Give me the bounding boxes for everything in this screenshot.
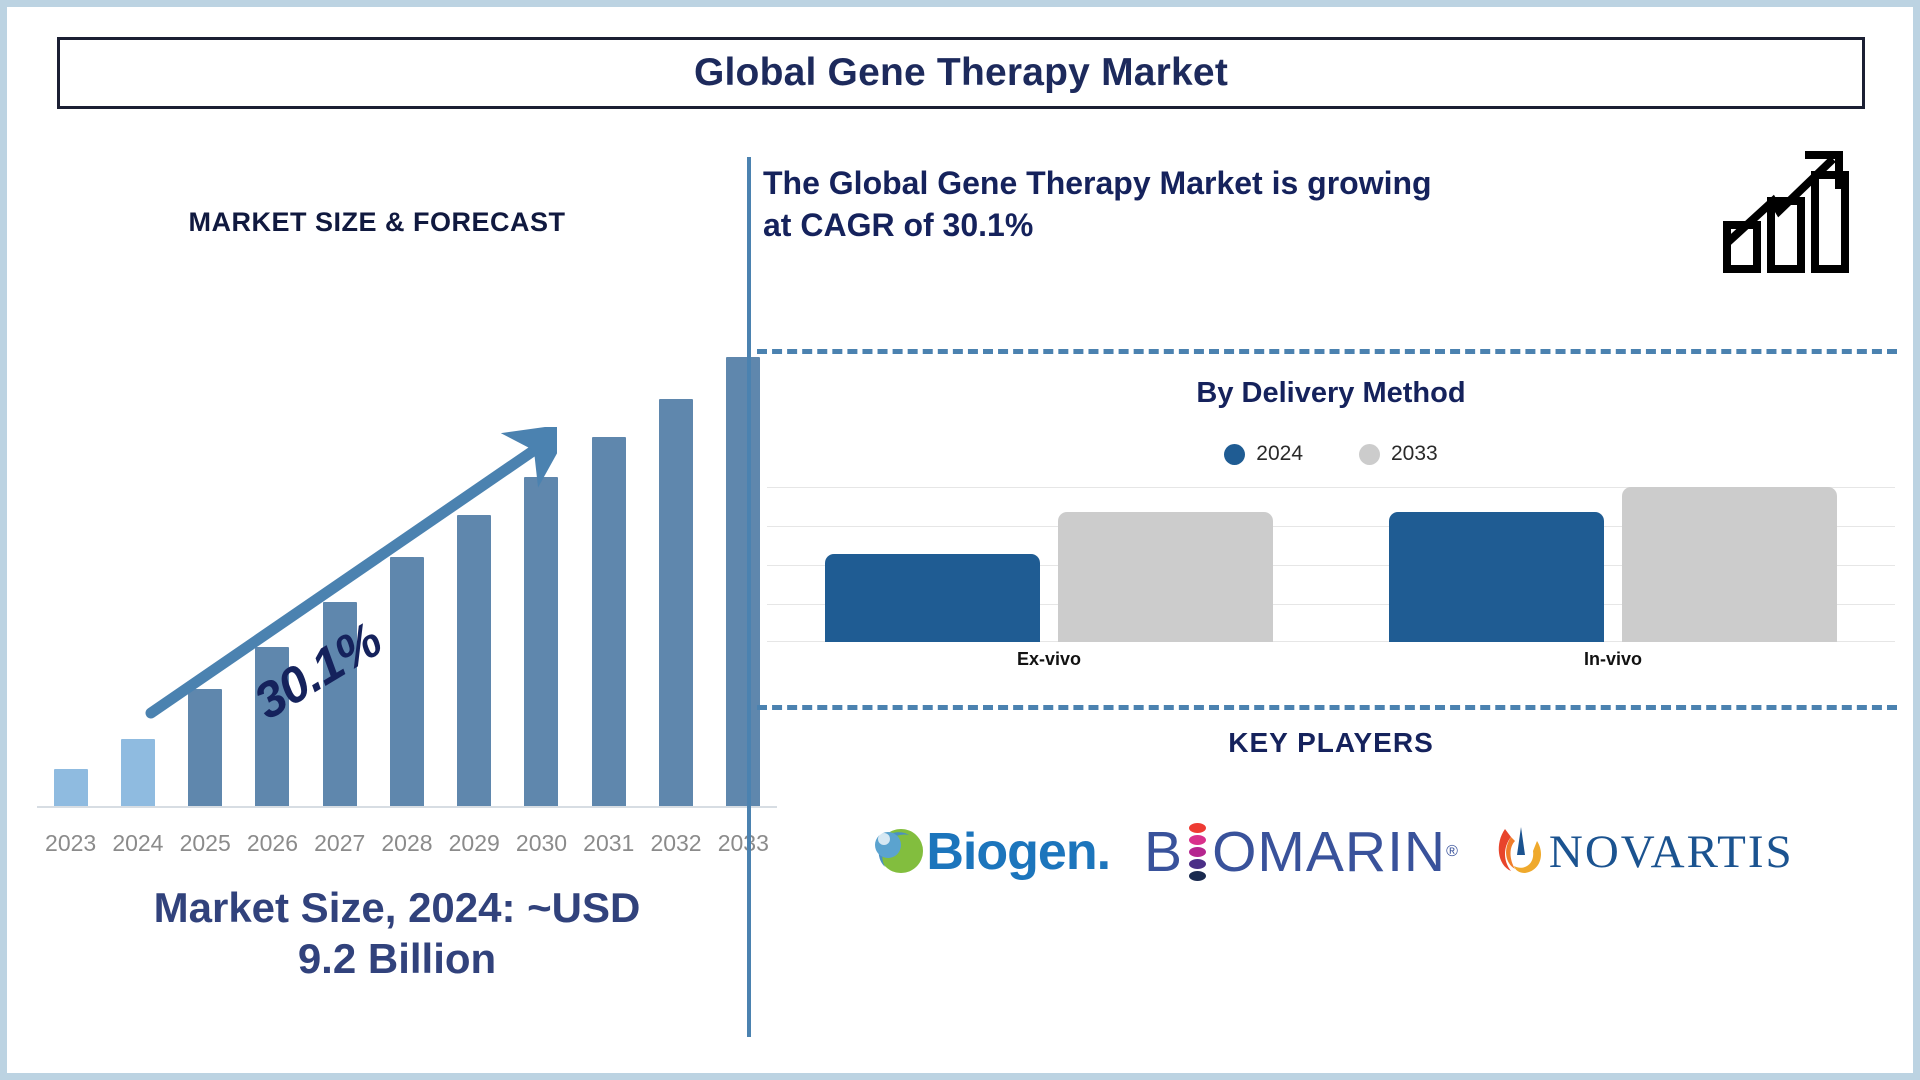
bar-slot-2025: [172, 287, 239, 807]
delivery-category-labels: Ex-vivo In-vivo: [767, 649, 1895, 670]
delivery-label-ex-vivo: Ex-vivo: [767, 649, 1331, 670]
bar-2024: [121, 739, 155, 807]
headline-line-2: at CAGR of 30.1%: [763, 204, 1563, 246]
biomarin-registered-mark: ®: [1446, 843, 1459, 861]
biogen-sphere-icon: [868, 823, 926, 881]
year-label-2029: 2029: [441, 830, 508, 857]
year-label-2030: 2030: [508, 830, 575, 857]
delivery-method-title: By Delivery Method: [751, 377, 1911, 410]
legend-dot-2033-icon: [1359, 444, 1380, 465]
delivery-legend: 2024 2033: [751, 442, 1911, 466]
legend-item-2024: 2024: [1224, 442, 1303, 466]
page-title: Global Gene Therapy Market: [694, 51, 1228, 95]
market-size-forecast-chart: 2023 2024 2025 2026 2027 2028 2029 2030 …: [37, 287, 777, 867]
key-players-title: KEY PLAYERS: [751, 727, 1911, 759]
title-box: Global Gene Therapy Market: [57, 37, 1865, 109]
market-size-forecast-heading: MARKET SIZE & FORECAST: [27, 207, 727, 238]
bar-slot-2023: [37, 287, 104, 807]
bar-slot-2030: [508, 287, 575, 807]
cagr-headline: The Global Gene Therapy Market is growin…: [763, 162, 1563, 246]
biomarin-prefix: B: [1144, 819, 1183, 885]
year-label-2027: 2027: [306, 830, 373, 857]
market-size-value: Market Size, 2024: ~USD 9.2 Billion: [37, 882, 757, 984]
year-label-2028: 2028: [373, 830, 440, 857]
delivery-bar-groups: [767, 487, 1895, 642]
bar-slot-2031: [575, 287, 642, 807]
delivery-bar-ex-vivo-2024: [825, 554, 1040, 642]
novartis-flame-icon: [1493, 821, 1549, 883]
market-size-line-1: Market Size, 2024: ~USD: [37, 882, 757, 933]
bar-2030: [524, 477, 558, 807]
divider-top-dashed: [757, 349, 1897, 354]
year-label-2024: 2024: [104, 830, 171, 857]
delivery-group-in-vivo: [1331, 487, 1895, 642]
legend-label-2033: 2033: [1391, 442, 1438, 466]
bar-2025: [188, 689, 222, 807]
infographic-root: Global Gene Therapy Market MARKET SIZE &…: [0, 0, 1920, 1080]
delivery-bar-in-vivo-2033: [1622, 487, 1837, 642]
bar-slot-2032: [642, 287, 709, 807]
year-label-2031: 2031: [575, 830, 642, 857]
bar-chart-growth-icon: [1721, 145, 1861, 275]
legend-label-2024: 2024: [1256, 442, 1303, 466]
bar-2031: [592, 437, 626, 807]
delivery-group-ex-vivo: [767, 487, 1331, 642]
year-label-2023: 2023: [37, 830, 104, 857]
delivery-bar-in-vivo-2024: [1389, 512, 1604, 642]
delivery-bar-ex-vivo-2033: [1058, 512, 1273, 642]
market-size-line-2: 9.2 Billion: [37, 933, 757, 984]
year-label-2026: 2026: [239, 830, 306, 857]
x-axis-line: [37, 806, 777, 808]
legend-dot-2024-icon: [1224, 444, 1245, 465]
year-label-2025: 2025: [172, 830, 239, 857]
delivery-label-in-vivo: In-vivo: [1331, 649, 1895, 670]
bar-slot-2028: [373, 287, 440, 807]
year-label-2032: 2032: [642, 830, 709, 857]
bar-2023: [54, 769, 88, 807]
divider-bottom-dashed: [757, 705, 1897, 710]
bar-2029: [457, 515, 491, 807]
bar-2032: [659, 399, 693, 807]
biomarin-suffix: OMARIN: [1212, 819, 1446, 885]
logo-biomarin: B OMARIN ®: [1144, 819, 1459, 885]
biomarin-dots-icon: [1189, 823, 1206, 881]
legend-item-2033: 2033: [1359, 442, 1438, 466]
forecast-bars: [37, 287, 777, 807]
year-axis-labels: 2023 2024 2025 2026 2027 2028 2029 2030 …: [37, 830, 777, 857]
novartis-wordmark: NOVARTIS: [1549, 825, 1794, 879]
right-panel: The Global Gene Therapy Market is growin…: [751, 127, 1911, 1057]
logo-biogen: Biogen.: [868, 822, 1110, 882]
key-players-logos: Biogen. B OMARIN ®: [751, 787, 1911, 917]
headline-line-1: The Global Gene Therapy Market is growin…: [763, 162, 1563, 204]
bar-2028: [390, 557, 424, 807]
bar-slot-2024: [104, 287, 171, 807]
bar-slot-2029: [441, 287, 508, 807]
bar-slot-2027: [306, 287, 373, 807]
delivery-method-chart: Ex-vivo In-vivo: [751, 487, 1911, 687]
logo-novartis: NOVARTIS: [1493, 821, 1794, 883]
biogen-wordmark: Biogen.: [926, 822, 1110, 882]
left-panel: MARKET SIZE & FORECAST 2023 2024 2025: [27, 127, 747, 1057]
